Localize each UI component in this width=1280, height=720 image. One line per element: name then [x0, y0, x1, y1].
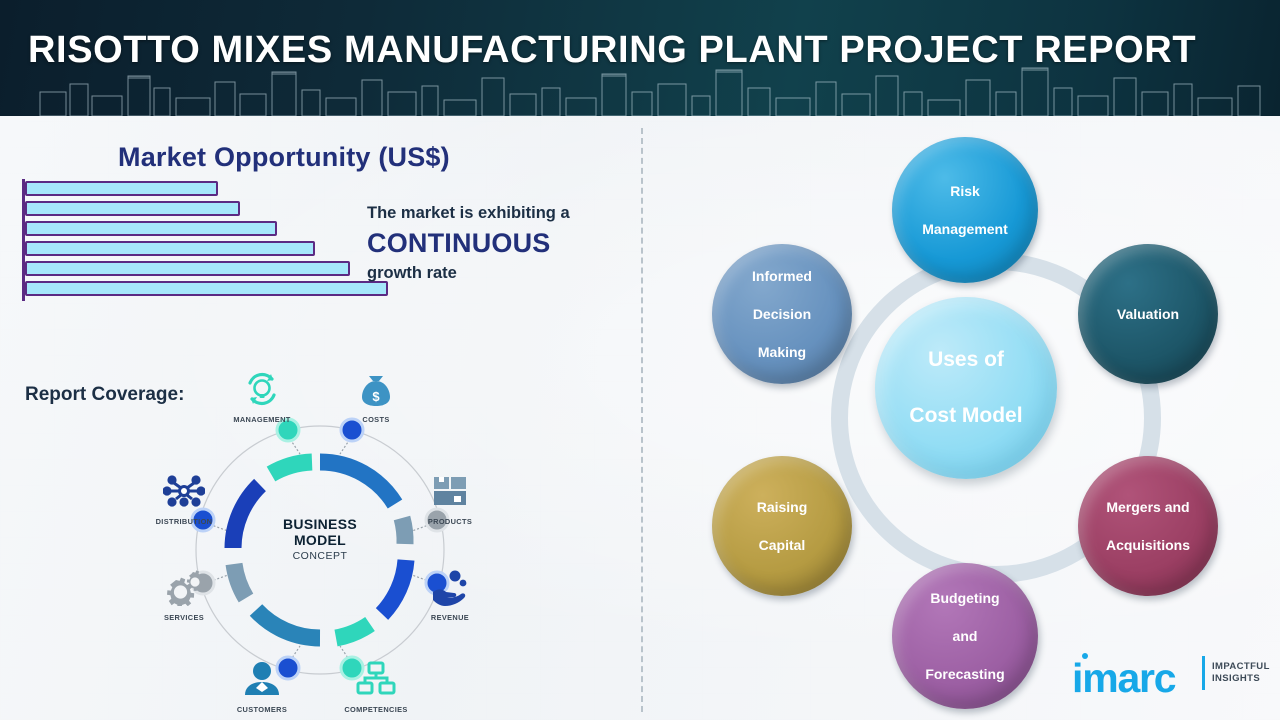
svg-text:$: $ [372, 389, 380, 404]
bm-node-distribution: DISTRIBUTION [138, 468, 230, 526]
bm-node-revenue: REVENUE [404, 564, 496, 622]
bubble-mergers-line2: Acquisitions [1100, 536, 1196, 555]
bubble-uses-of-cost-model: Uses of Cost Model [875, 297, 1057, 479]
bubble-raising-line2: Capital [751, 536, 814, 555]
bm-node-label: COSTS [330, 415, 422, 424]
bm-node-label: DISTRIBUTION [138, 517, 230, 526]
logo-divider [1202, 656, 1205, 690]
bubble-valuation-label: Valuation [1111, 305, 1185, 324]
chart-bar [25, 261, 350, 276]
bubble-budget-line2: and [919, 627, 1010, 646]
gears-icon [138, 564, 230, 610]
hand-coins-icon [404, 564, 496, 610]
logo-tagline-line1: IMPACTFUL [1212, 661, 1270, 672]
bubble-risk-line2: Management [916, 220, 1014, 239]
bubble-budget-line3: Forecasting [919, 665, 1010, 684]
bm-node-customers: CUSTOMERS [216, 656, 308, 714]
bubble-center-line1: Uses of [903, 346, 1028, 374]
lightbulb-cycle-icon [216, 366, 308, 412]
bm-node-label: SERVICES [138, 613, 230, 622]
bm-node-costs: $ COSTS [330, 366, 422, 424]
business-model-center: BUSINESS MODEL CONCEPT [232, 462, 408, 638]
logo-wordmark: imarc [1072, 658, 1175, 699]
bm-node-label: COMPETENCIES [330, 705, 422, 714]
chart-bar [25, 221, 277, 236]
business-model-center-text: BUSINESS MODEL CONCEPT [232, 516, 408, 564]
growth-note: The market is exhibiting a CONTINUOUS gr… [367, 202, 633, 284]
chart-bar [25, 281, 388, 296]
chart-bar [25, 181, 218, 196]
bubble-informed-line1: Informed [746, 267, 818, 286]
bm-center-line2: MODEL [232, 532, 408, 548]
bm-node-label: CUSTOMERS [216, 705, 308, 714]
bm-node-label: PRODUCTS [404, 517, 496, 526]
bm-center-line1: BUSINESS [232, 516, 408, 532]
bubble-mergers-line1: Mergers and [1100, 498, 1196, 517]
bubble-raising-line1: Raising [751, 498, 814, 517]
right-panel: Uses of Cost Model Risk Management Valua… [641, 116, 1280, 720]
bm-center-line3: CONCEPT [232, 548, 408, 564]
bm-node-label: REVENUE [404, 613, 496, 622]
bubble-risk-management: Risk Management [892, 137, 1038, 283]
bubble-risk-line1: Risk [916, 182, 1014, 201]
bubble-raising-capital: Raising Capital [712, 456, 852, 596]
logo-tagline-line2: INSIGHTS [1212, 673, 1260, 684]
bm-node-management: MANAGEMENT [216, 366, 308, 424]
bubble-mergers-acquisitions: Mergers and Acquisitions [1078, 456, 1218, 596]
slide: RISOTTO MIXES MANUFACTURING PLANT PROJEC… [0, 0, 1280, 720]
chart-bar [25, 241, 315, 256]
page-title: RISOTTO MIXES MANUFACTURING PLANT PROJEC… [28, 28, 1196, 72]
bubble-valuation: Valuation [1078, 244, 1218, 384]
bm-node-label: MANAGEMENT [216, 415, 308, 424]
bubble-informed-decision-making: Informed Decision Making [712, 244, 852, 384]
header-banner: RISOTTO MIXES MANUFACTURING PLANT PROJEC… [0, 0, 1280, 116]
imarc-logo[interactable]: imarc IMPACTFUL INSIGHTS [1072, 648, 1268, 704]
growth-note-highlight: CONTINUOUS [367, 224, 633, 262]
bubble-center-line2: Cost Model [903, 402, 1028, 430]
market-opportunity-title: Market Opportunity (US$) [118, 142, 450, 173]
bm-node-products: PRODUCTS [404, 468, 496, 526]
bubble-budgeting-forecasting: Budgeting and Forecasting [892, 563, 1038, 709]
person-icon [216, 656, 308, 702]
boxes-icon [404, 468, 496, 514]
network-nodes-icon [138, 468, 230, 514]
growth-note-line1: The market is exhibiting a [367, 202, 633, 224]
bubble-informed-line3: Making [746, 343, 818, 362]
left-panel: Market Opportunity (US$) The market is e… [0, 116, 641, 720]
logo-tagline: IMPACTFUL INSIGHTS [1212, 661, 1270, 685]
org-chart-icon [330, 656, 422, 702]
chart-bar [25, 201, 240, 216]
bubble-budget-line1: Budgeting [919, 589, 1010, 608]
money-bag-icon: $ [330, 366, 422, 412]
growth-note-line3: growth rate [367, 262, 633, 284]
bubble-informed-line2: Decision [746, 305, 818, 324]
bm-node-services: SERVICES [138, 564, 230, 622]
market-opportunity-bar-chart [22, 179, 422, 301]
bm-node-competencies: COMPETENCIES [330, 656, 422, 714]
business-model-diagram: BUSINESS MODEL CONCEPT MANAGEMENT [140, 368, 500, 713]
